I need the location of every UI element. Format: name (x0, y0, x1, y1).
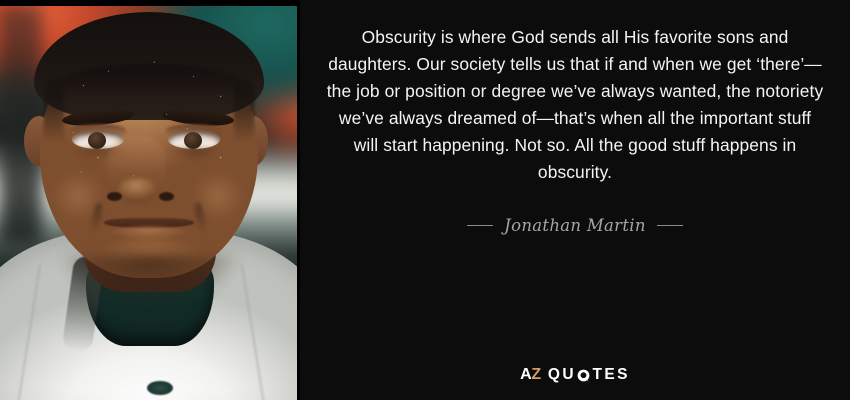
logo-quotes-tes: TES (593, 367, 630, 383)
attribution-author: Jonathan Martin (504, 216, 646, 235)
jaw-shadow (60, 256, 240, 304)
logo-letter-a: A (520, 366, 531, 383)
logo-quotes-qu: QU (548, 367, 576, 383)
speech-bubble-o-icon (577, 369, 590, 382)
author-photo (0, 6, 297, 400)
quote-card: Obscurity is where God sends all His fav… (0, 0, 850, 400)
logo-quotes-word: QU TES (548, 367, 630, 383)
face-glitter (46, 46, 254, 226)
attribution: Jonathan Martin (467, 216, 683, 235)
quote-pane: Obscurity is where God sends all His fav… (300, 0, 850, 400)
logo-az-mark: AZ (520, 367, 541, 383)
attribution-rule-left (467, 225, 493, 226)
author-photo-pane (0, 0, 300, 400)
attribution-rule-right (657, 225, 683, 226)
collar-logo (147, 381, 173, 395)
logo-letter-z: Z (531, 366, 540, 383)
quote-text: Obscurity is where God sends all His fav… (325, 24, 825, 186)
az-quotes-logo[interactable]: AZ QU TES (300, 367, 850, 383)
